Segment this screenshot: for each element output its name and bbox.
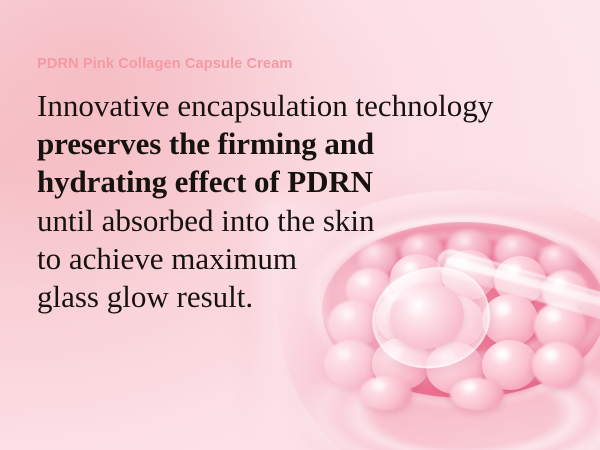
text-block: PDRN Pink Collagen Capsule Cream Innovat… <box>0 0 600 450</box>
banner-canvas: PDRN Pink Collagen Capsule Cream Innovat… <box>0 0 600 450</box>
headline-line-3: hydrating effect of PDRN <box>37 163 493 201</box>
headline-line-6: glass glow result. <box>37 278 493 316</box>
headline-line-4: until absorbed into the skin <box>37 202 493 240</box>
headline: Innovative encapsulation technology pres… <box>37 87 493 316</box>
headline-line-2: preserves the firming and <box>37 125 493 163</box>
product-name-eyebrow: PDRN Pink Collagen Capsule Cream <box>37 56 292 72</box>
headline-line-5: to achieve maximum <box>37 240 493 278</box>
headline-line-1: Innovative encapsulation technology <box>37 87 493 125</box>
